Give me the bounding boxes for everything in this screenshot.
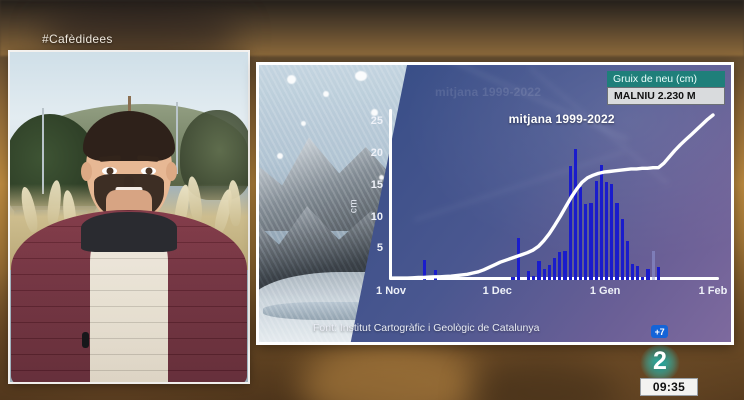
legend-title: Gruix de neu (cm) — [607, 71, 725, 87]
source-note: Font: Institut Cartogràfic i Geològic de… — [313, 322, 539, 334]
presenter-ear — [166, 162, 177, 181]
plot-area: 510152025 1 Nov1 Dec1 Gen1 Feb mitjana 1… — [391, 115, 713, 280]
plus7-badge: +7 — [651, 325, 668, 338]
infographic-panel: mitjana 1999-2022 Gruix de neu (cm) MALN… — [256, 62, 734, 345]
hashtag-overlay: #Cafèdidees — [42, 32, 113, 46]
presenter-jacket — [11, 210, 247, 382]
legend-station: MALNIU 2.230 M — [607, 87, 725, 105]
x-axis-tick: 1 Dec — [483, 285, 512, 297]
chart-legend: Gruix de neu (cm) MALNIU 2.230 M — [607, 71, 725, 105]
x-axis-tick: 1 Gen — [590, 285, 621, 297]
snowflake — [323, 91, 329, 97]
y-axis-label: cm — [349, 198, 360, 212]
jacket-collar — [81, 212, 177, 252]
y-axis-tick: 20 — [371, 147, 383, 159]
y-axis-tick: 15 — [371, 179, 383, 191]
average-line — [391, 115, 713, 280]
snowflake — [301, 121, 306, 126]
snowflake — [277, 153, 283, 159]
ghost-series-label: mitjana 1999-2022 — [435, 85, 541, 99]
channel-logo: 2 — [640, 344, 680, 378]
snowflake — [287, 75, 296, 84]
presenter-ear — [81, 162, 92, 181]
broadcast-screen: #Cafèdidees mitjana 1999-2022 Gruix de n… — [0, 0, 744, 400]
series-label: mitjana 1999-2022 — [509, 112, 615, 126]
lapel-microphone — [82, 332, 89, 348]
y-axis-tick: 10 — [371, 211, 383, 223]
snow-depth-chart: cm 510152025 1 Nov1 Dec1 Gen1 Feb mitjan… — [345, 109, 719, 302]
presenter — [10, 132, 248, 382]
x-axis-tick: 1 Nov — [376, 285, 406, 297]
presenter-video — [10, 52, 248, 382]
background-top-band — [0, 0, 744, 56]
y-axis-tick: 25 — [371, 115, 383, 127]
clock-overlay: 09:35 — [640, 378, 698, 396]
x-axis-tick: 1 Feb — [699, 285, 728, 297]
y-axis-tick: 5 — [377, 242, 383, 254]
snowflake — [355, 71, 367, 81]
